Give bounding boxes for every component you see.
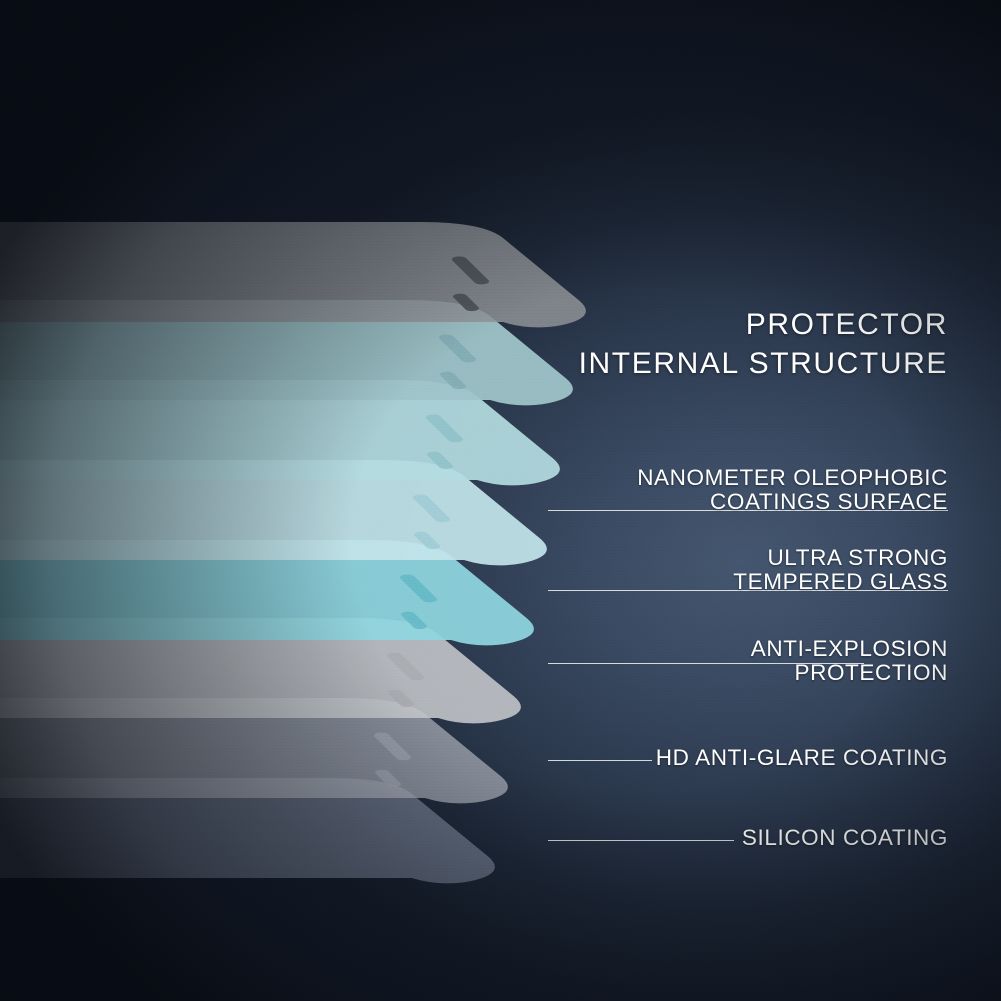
callout-label-nanometer: NANOMETER OLEOPHOBIC COATINGS SURFACE [528,466,948,514]
callout-label-hd-anti-glare: HD ANTI-GLARE COATING [528,746,948,770]
infographic-canvas: PROTECTOR INTERNAL STRUCTURE NANOMETER O… [0,0,1001,1001]
callout-label-anti-explosion: ANTI-EXPLOSION PROTECTION [528,637,948,685]
callout-label-silicon: SILICON COATING [528,826,948,850]
callout-label-tempered-glass: ULTRA STRONG TEMPERED GLASS [528,546,948,594]
callout-group: NANOMETER OLEOPHOBIC COATINGS SURFACE UL… [0,0,1001,1001]
